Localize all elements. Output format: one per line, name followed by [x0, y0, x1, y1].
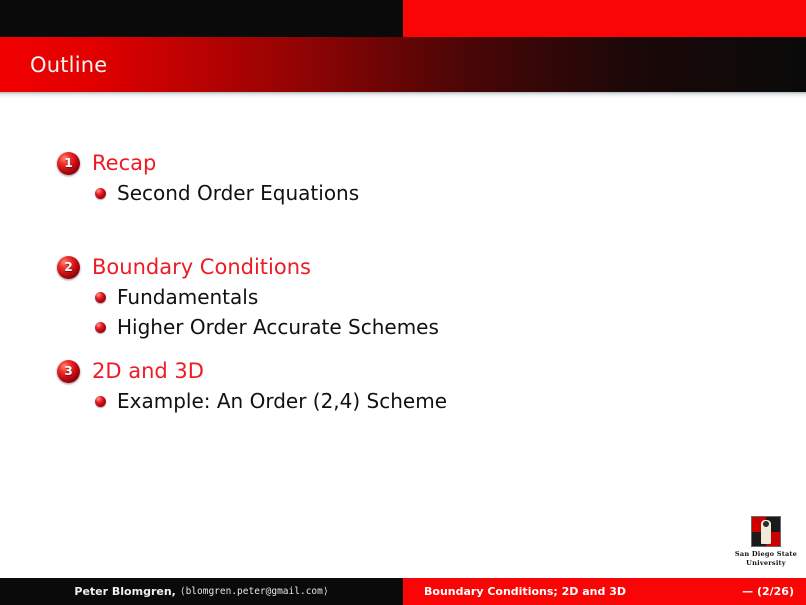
subsection-item[interactable]: Example: An Order (2,4) Scheme [0, 386, 806, 416]
section-spacer [0, 208, 806, 252]
footer-subject-text: Boundary Conditions; 2D and 3D [424, 585, 626, 598]
bullet-icon [95, 396, 106, 407]
slide-title-bar: Outline [0, 37, 806, 92]
crest-figure-head [763, 521, 769, 527]
subsection-item[interactable]: Higher Order Accurate Schemes [0, 312, 806, 342]
subsection-label: Second Order Equations [117, 183, 359, 203]
section-number-badge-1: 1 [57, 152, 80, 175]
bullet-icon [95, 188, 106, 199]
sdsu-logo: San Diego State University [732, 516, 800, 568]
sdsu-crest-icon [751, 516, 781, 547]
page-title: Outline [30, 53, 107, 77]
section-spacer [0, 342, 806, 356]
subsection-item[interactable]: Fundamentals [0, 282, 806, 312]
section-header-2[interactable]: 2 Boundary Conditions [0, 252, 806, 282]
section-number-3: 3 [64, 365, 72, 377]
footer-page-number: — (2/26) [742, 585, 794, 598]
subsection-label: Example: An Order (2,4) Scheme [117, 391, 447, 411]
footer-author-block: Peter Blomgren, ⟨blomgren.peter@gmail.co… [0, 578, 403, 605]
slide-footer: Peter Blomgren, ⟨blomgren.peter@gmail.co… [0, 578, 806, 605]
subsection-label: Higher Order Accurate Schemes [117, 317, 439, 337]
bullet-icon [95, 322, 106, 333]
section-number-1: 1 [64, 157, 72, 169]
footer-subject-block: Boundary Conditions; 2D and 3D — (2/26) [403, 578, 806, 605]
section-title-3: 2D and 3D [92, 361, 204, 382]
outline-section-3: 3 2D and 3D Example: An Order (2,4) Sche… [0, 356, 806, 416]
bullet-icon [95, 292, 106, 303]
top-decor-bar [0, 0, 806, 37]
footer-author-name: Peter Blomgren, [74, 585, 175, 598]
slide-content: 1 Recap Second Order Equations 2 Boundar… [0, 98, 806, 576]
section-title-2: Boundary Conditions [92, 257, 311, 278]
section-header-1[interactable]: 1 Recap [0, 148, 806, 178]
sdsu-logo-line2: University [732, 559, 800, 568]
subsection-item[interactable]: Second Order Equations [0, 178, 806, 208]
outline-section-2: 2 Boundary Conditions Fundamentals Highe… [0, 252, 806, 342]
section-number-badge-2: 2 [57, 256, 80, 279]
section-header-3[interactable]: 3 2D and 3D [0, 356, 806, 386]
subsection-label: Fundamentals [117, 287, 258, 307]
outline-section-1: 1 Recap Second Order Equations [0, 148, 806, 208]
sdsu-logo-line1: San Diego State [735, 550, 797, 558]
section-number-badge-3: 3 [57, 360, 80, 383]
section-title-1: Recap [92, 153, 156, 174]
outline-list: 1 Recap Second Order Equations 2 Boundar… [0, 148, 806, 416]
top-decor-bar-black [0, 0, 403, 37]
sdsu-logo-text: San Diego State University [732, 550, 800, 568]
section-number-2: 2 [64, 261, 72, 273]
top-decor-bar-red [403, 0, 806, 37]
footer-author-email: ⟨blomgren.peter@gmail.com⟩ [180, 586, 329, 597]
